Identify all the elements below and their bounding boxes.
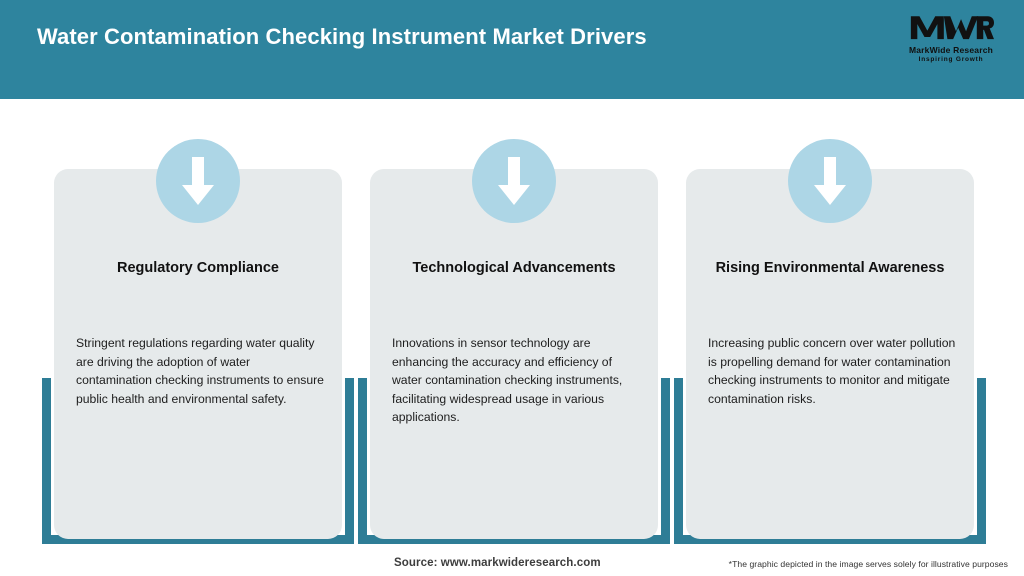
logo-tagline: Inspiring Growth <box>896 55 1006 64</box>
driver-card-heading: Technological Advancements <box>390 257 638 279</box>
page-title: Water Contamination Checking Instrument … <box>37 22 817 52</box>
brand-logo: MarkWide Research Inspiring Growth <box>896 10 1006 70</box>
driver-card-heading: Regulatory Compliance <box>74 257 322 279</box>
driver-card-group-3: Rising Environmental Awareness Increasin… <box>674 99 986 544</box>
driver-card-body: Stringent regulations regarding water qu… <box>76 334 328 408</box>
footer-source: Source: www.markwideresearch.com <box>394 557 601 569</box>
driver-card[interactable]: Technological Advancements Innovations i… <box>370 169 658 539</box>
down-arrow-icon <box>472 139 556 223</box>
logo-company-name: MarkWide Research <box>896 45 1006 55</box>
driver-card-heading: Rising Environmental Awareness <box>706 257 954 279</box>
header-band: Water Contamination Checking Instrument … <box>0 0 1024 99</box>
driver-card-group-1: Regulatory Compliance Stringent regulati… <box>42 99 354 544</box>
driver-card[interactable]: Rising Environmental Awareness Increasin… <box>686 169 974 539</box>
drivers-card-row: Regulatory Compliance Stringent regulati… <box>0 99 1024 544</box>
down-arrow-icon <box>788 139 872 223</box>
mwr-logo-icon <box>908 10 994 44</box>
footer-disclaimer: *The graphic depicted in the image serve… <box>729 559 1008 569</box>
driver-card[interactable]: Regulatory Compliance Stringent regulati… <box>54 169 342 539</box>
driver-card-body: Innovations in sensor technology are enh… <box>392 334 644 427</box>
driver-card-body: Increasing public concern over water pol… <box>708 334 960 408</box>
down-arrow-icon <box>156 139 240 223</box>
driver-card-group-2: Technological Advancements Innovations i… <box>358 99 670 544</box>
